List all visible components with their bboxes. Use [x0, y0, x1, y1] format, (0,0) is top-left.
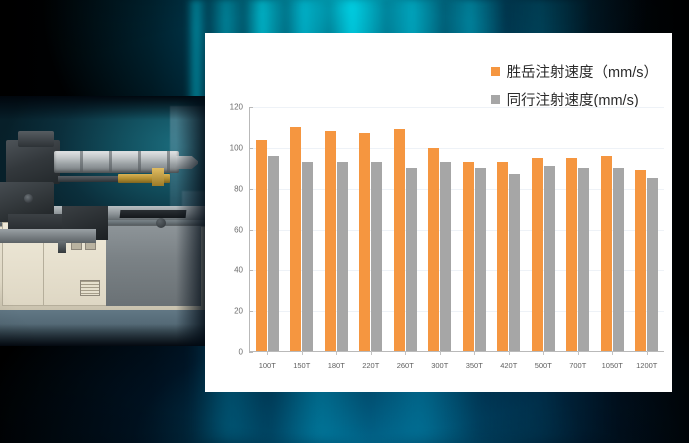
x-axis-label: 420T: [492, 361, 527, 370]
x-axis-tick-mark: [474, 351, 475, 355]
legend-item-0[interactable]: 胜岳注射速度（mm/s）: [491, 61, 658, 82]
x-axis-tick-mark: [267, 351, 268, 355]
bar-series-2[interactable]: [268, 156, 279, 351]
cabinet-button-right: [85, 242, 96, 250]
bar-series-2[interactable]: [371, 162, 382, 351]
machine-fitting: [58, 241, 66, 253]
bar-series-1[interactable]: [566, 158, 577, 351]
bar-group: [388, 107, 423, 351]
injection-motor-block: [18, 131, 54, 147]
x-axis-tick-mark: [302, 351, 303, 355]
legend-item-label: 胜岳注射速度（mm/s）: [507, 61, 658, 82]
x-axis-label: 260T: [388, 361, 423, 370]
bar-group: [457, 107, 492, 351]
y-axis-tick-label: 60: [217, 225, 243, 234]
bar-series-1[interactable]: [290, 127, 301, 351]
bar-series-1[interactable]: [256, 140, 267, 351]
photo-fade-right: [176, 96, 206, 346]
machine-port: [24, 194, 33, 203]
x-axis-label: 150T: [285, 361, 320, 370]
x-axis-tick-mark: [371, 351, 372, 355]
brass-collar: [152, 168, 164, 186]
bar-series-2[interactable]: [613, 168, 624, 351]
bar-series-2[interactable]: [647, 178, 658, 351]
x-axis-tick-mark: [440, 351, 441, 355]
y-axis-tick-label: 80: [217, 184, 243, 193]
bar-series-1[interactable]: [635, 170, 646, 351]
bar-series-1[interactable]: [532, 158, 543, 351]
x-axis-tick-mark: [543, 351, 544, 355]
x-axis-label: 1200T: [630, 361, 665, 370]
bar-series-2[interactable]: [302, 162, 313, 351]
screenshot-root: 胜岳注射速度（mm/s）同行注射速度(mm/s) 020406080100120…: [0, 0, 689, 443]
x-axis-line: [249, 351, 664, 352]
x-axis-label: 500T: [526, 361, 561, 370]
bar-group: [561, 107, 596, 351]
machine-knob: [156, 218, 166, 228]
y-axis-tick-label: 120: [217, 103, 243, 112]
x-axis-tick-mark: [578, 351, 579, 355]
bar-series-2[interactable]: [475, 168, 486, 351]
x-axis-tick-mark: [647, 351, 648, 355]
bar-series-2[interactable]: [440, 162, 451, 351]
bar-series-2[interactable]: [406, 168, 417, 351]
bar-group: [354, 107, 389, 351]
x-axis-tick-mark: [509, 351, 510, 355]
x-axis-tick-mark: [336, 351, 337, 355]
y-axis-tick-mark: [249, 352, 253, 353]
bar-series-1[interactable]: [428, 148, 439, 351]
bar-group: [423, 107, 458, 351]
bar-series-1[interactable]: [463, 162, 474, 351]
x-axis-tick-mark: [405, 351, 406, 355]
bar-group: [630, 107, 665, 351]
x-axis-label: 700T: [561, 361, 596, 370]
chart-card: 胜岳注射速度（mm/s）同行注射速度(mm/s) 020406080100120…: [205, 33, 672, 392]
bar-group: [250, 107, 285, 351]
x-axis-labels: 100T150T180T220T260T300T350T420T500T700T…: [250, 361, 664, 370]
bar-series-2[interactable]: [509, 174, 520, 351]
injection-molding-machine-photo: [0, 96, 206, 346]
y-axis-tick-label: 40: [217, 266, 243, 275]
bar-group: [526, 107, 561, 351]
x-axis-label: 1050T: [595, 361, 630, 370]
x-axis-label: 300T: [423, 361, 458, 370]
cabinet-vent: [80, 280, 100, 296]
bar-series-1[interactable]: [497, 162, 508, 351]
bar-series-2[interactable]: [578, 168, 589, 351]
bar-group: [492, 107, 527, 351]
bar-series-1[interactable]: [394, 129, 405, 351]
bar-groups: [250, 107, 664, 351]
x-axis-label: 180T: [319, 361, 354, 370]
bar-series-2[interactable]: [544, 166, 555, 351]
x-axis-label: 100T: [250, 361, 285, 370]
cabinet-button-left: [71, 242, 82, 250]
chart-plot-area: 020406080100120: [249, 107, 664, 352]
machine-rail: [0, 229, 96, 243]
x-axis-label: 220T: [354, 361, 389, 370]
bar-group: [319, 107, 354, 351]
bar-series-2[interactable]: [337, 162, 348, 351]
y-axis-tick-label: 20: [217, 307, 243, 316]
legend-swatch-icon: [491, 67, 500, 76]
y-axis-tick-label: 100: [217, 143, 243, 152]
x-axis-tick-mark: [612, 351, 613, 355]
y-axis-tick-label: 0: [217, 348, 243, 357]
legend-swatch-icon: [491, 95, 500, 104]
x-axis-label: 350T: [457, 361, 492, 370]
bar-group: [285, 107, 320, 351]
bar-series-1[interactable]: [601, 156, 612, 351]
bar-group: [595, 107, 630, 351]
bar-series-1[interactable]: [325, 131, 336, 351]
bar-series-1[interactable]: [359, 133, 370, 351]
